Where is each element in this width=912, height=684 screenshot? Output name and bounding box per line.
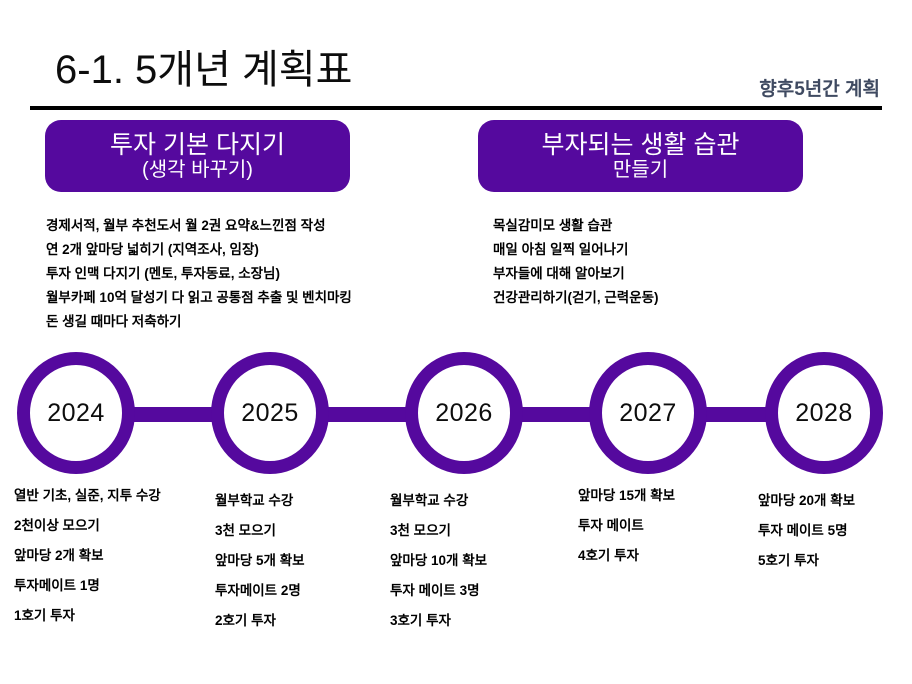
section-subtitle: (생각 바꾸기) [142,159,253,182]
list-item: 경제서적, 월부 추천도서 월 2권 요약&느낀점 작성 [46,214,352,238]
list-item: 앞마당 5개 확보 [215,546,305,576]
list-item: 투자메이트 2명 [215,576,305,606]
timeline-year-label: 2027 [619,399,677,428]
year-plan-2027: 앞마당 15개 확보 투자 메이트 4호기 투자 [578,481,675,571]
year-plan-2028: 앞마당 20개 확보 투자 메이트 5명 5호기 투자 [758,486,855,576]
list-item: 2천이상 모으기 [14,511,161,541]
list-item: 앞마당 10개 확보 [390,546,487,576]
timeline-node-2026[interactable]: 2026 [405,352,523,474]
list-item: 4호기 투자 [578,541,675,571]
list-item: 2호기 투자 [215,606,305,636]
year-plan-2026: 월부학교 수강 3천 모으기 앞마당 10개 확보 투자 메이트 3명 3호기 … [390,486,487,636]
list-item: 앞마당 2개 확보 [14,541,161,571]
header-divider [30,106,882,110]
list-item: 월부카페 10억 달성기 다 읽고 공통점 추출 및 벤치마킹 [46,286,352,310]
timeline-year-label: 2028 [795,399,853,428]
list-item: 투자 메이트 5명 [758,516,855,546]
section-items-rich-habits: 목실감미모 생활 습관 매일 아침 일찍 일어나기 부자들에 대해 알아보기 건… [493,214,659,310]
header-note: 향후5년간 계획 [759,74,880,101]
list-item: 앞마당 20개 확보 [758,486,855,516]
list-item: 투자 메이트 3명 [390,576,487,606]
section-title: 부자되는 생활 습관 [542,131,740,159]
section-items-investment-basics: 경제서적, 월부 추천도서 월 2권 요약&느낀점 작성 연 2개 앞마당 넓히… [46,214,352,334]
page-title: 6-1. 5개년 계획표 [55,48,352,92]
list-item: 목실감미모 생활 습관 [493,214,659,238]
list-item: 3천 모으기 [215,516,305,546]
section-header-investment-basics: 투자 기본 다지기 (생각 바꾸기) [45,120,350,192]
list-item: 열반 기초, 실준, 지투 수강 [14,481,161,511]
list-item: 연 2개 앞마당 넓히기 (지역조사, 임장) [46,238,352,262]
timeline-node-2028[interactable]: 2028 [765,352,883,474]
list-item: 매일 아침 일찍 일어나기 [493,238,659,262]
section-subtitle: 만들기 [613,159,668,182]
year-plan-2025: 월부학교 수강 3천 모으기 앞마당 5개 확보 투자메이트 2명 2호기 투자 [215,486,305,636]
list-item: 앞마당 15개 확보 [578,481,675,511]
list-item: 3호기 투자 [390,606,487,636]
list-item: 월부학교 수강 [215,486,305,516]
timeline-year-label: 2026 [435,399,493,428]
timeline-year-label: 2024 [47,399,105,428]
year-plan-2024: 열반 기초, 실준, 지투 수강 2천이상 모으기 앞마당 2개 확보 투자메이… [14,481,161,631]
timeline-node-2027[interactable]: 2027 [589,352,707,474]
list-item: 투자메이트 1명 [14,571,161,601]
list-item: 부자들에 대해 알아보기 [493,262,659,286]
list-item: 투자 인맥 다지기 (멘토, 투자동료, 소장님) [46,262,352,286]
timeline-node-2024[interactable]: 2024 [17,352,135,474]
timeline-year-label: 2025 [241,399,299,428]
list-item: 1호기 투자 [14,601,161,631]
list-item: 건강관리하기(걷기, 근력운동) [493,286,659,310]
section-header-rich-habits: 부자되는 생활 습관 만들기 [478,120,803,192]
list-item: 월부학교 수강 [390,486,487,516]
list-item: 투자 메이트 [578,511,675,541]
section-title: 투자 기본 다지기 [110,131,285,159]
timeline: 2024 2025 2026 2027 2028 [0,352,912,476]
list-item: 5호기 투자 [758,546,855,576]
timeline-node-2025[interactable]: 2025 [211,352,329,474]
list-item: 3천 모으기 [390,516,487,546]
list-item: 돈 생길 때마다 저축하기 [46,310,352,334]
